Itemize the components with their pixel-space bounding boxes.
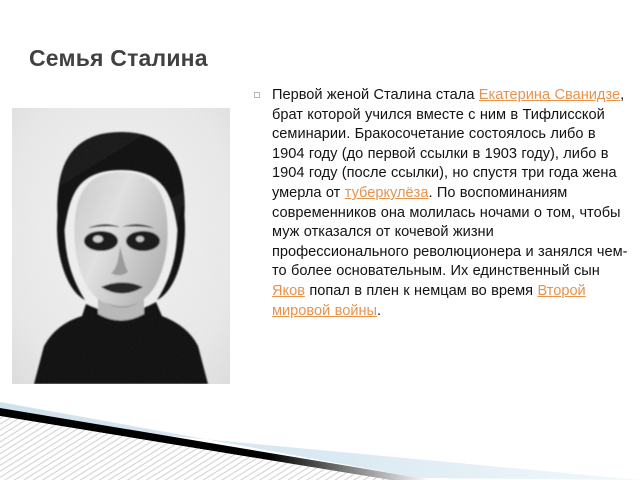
link-tuberculosis[interactable]: туберкулёза <box>345 185 429 201</box>
body-paragraph: Первой женой Сталина стала Екатерина Сва… <box>272 86 630 321</box>
link-ekaterina-svanidze[interactable]: Екатерина Сванидзе <box>479 87 620 103</box>
text-segment: . <box>377 303 381 319</box>
slide: Семья Сталина <box>0 0 640 480</box>
link-yakov[interactable]: Яков <box>272 283 305 299</box>
square-bullet-icon <box>254 92 260 98</box>
text-segment: попал в плен к немцам во время <box>305 283 537 299</box>
portrait-photo <box>12 108 230 384</box>
page-title: Семья Сталина <box>29 45 208 71</box>
content-text-block: Первой женой Сталина стала Екатерина Сва… <box>252 86 630 321</box>
text-segment: , брат которой учился вместе с ним в Тиф… <box>272 87 624 201</box>
text-segment: Первой женой Сталина стала <box>272 87 479 103</box>
list-item: Первой женой Сталина стала Екатерина Сва… <box>252 86 630 321</box>
bottom-diagonal-band <box>0 400 640 480</box>
